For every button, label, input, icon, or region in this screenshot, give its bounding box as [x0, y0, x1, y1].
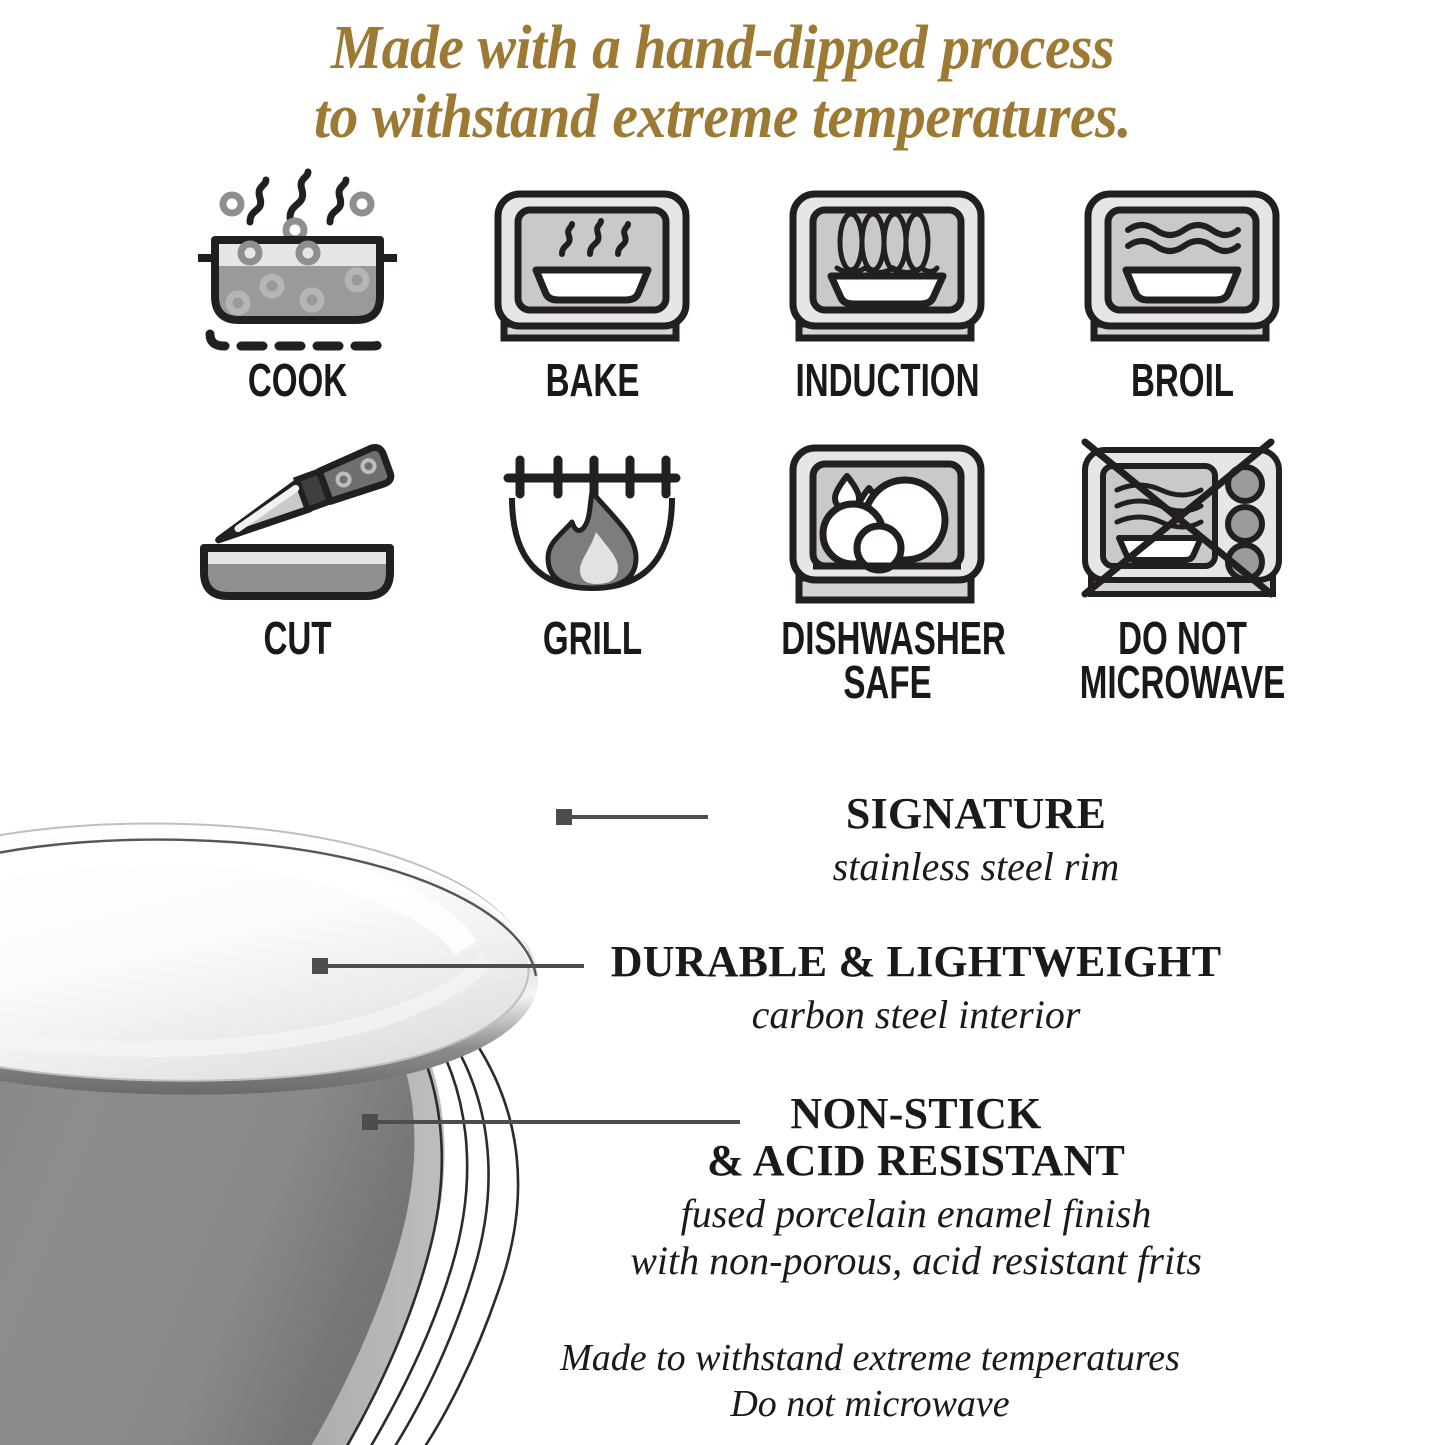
callout-signature: SIGNATURE stainless steel rim — [716, 790, 1236, 890]
callout-signature-subtitle: stainless steel rim — [716, 843, 1236, 890]
dishwasher-safe-icon — [740, 436, 1035, 611]
callout-nonstick-subtitle: fused porcelain enamel finish with non-p… — [556, 1190, 1276, 1284]
leader-line-durable — [312, 964, 584, 968]
pan-cutaway-illustration — [0, 626, 650, 1445]
icon-cell-induction: INDUCTION — [740, 178, 1035, 403]
page-headline: Made with a hand-dipped process to withs… — [51, 14, 1395, 153]
footer-note: Made to withstand extreme temperatures D… — [360, 1336, 1380, 1427]
icon-cell-do-not-microwave: DO NOT MICROWAVE — [1035, 436, 1330, 704]
headline-line-1: Made with a hand-dipped process — [51, 14, 1395, 83]
icon-label-induction: INDUCTION — [781, 359, 993, 403]
infographic-page: Made with a hand-dipped process to withs… — [0, 0, 1445, 1445]
icon-label-broil: BROIL — [1076, 359, 1288, 403]
icon-cell-dishwasher-safe: DISHWASHER SAFE — [740, 436, 1035, 704]
icon-label-dishwasher-safe: DISHWASHER SAFE — [781, 617, 993, 704]
induction-icon — [740, 178, 1035, 353]
footer-line-1: Made to withstand extreme temperatures — [560, 1337, 1180, 1379]
callout-nonstick-title: NON-STICK & ACID RESISTANT — [556, 1090, 1276, 1184]
bake-icon — [445, 178, 740, 353]
cook-icon — [150, 178, 445, 353]
callout-signature-title: SIGNATURE — [716, 790, 1236, 837]
icon-label-cook: COOK — [191, 359, 403, 403]
do-not-microwave-icon — [1035, 436, 1330, 611]
callout-nonstick: NON-STICK & ACID RESISTANT fused porcela… — [556, 1090, 1276, 1285]
icon-cell-broil: BROIL — [1035, 178, 1330, 403]
footer-line-2: Do not microwave — [360, 1382, 1380, 1428]
icon-label-do-not-microwave: DO NOT MICROWAVE — [1076, 617, 1288, 704]
icon-cell-cook: COOK — [150, 178, 445, 403]
leader-line-signature — [556, 815, 708, 819]
icon-cell-bake: BAKE — [445, 178, 740, 403]
headline-line-2: to withstand extreme temperatures. — [51, 83, 1395, 152]
callout-durable: DURABLE & LIGHTWEIGHT carbon steel inter… — [596, 938, 1236, 1038]
feature-icon-grid: COOK BAKE — [150, 178, 1330, 688]
callout-durable-subtitle: carbon steel interior — [596, 991, 1236, 1038]
callout-durable-title: DURABLE & LIGHTWEIGHT — [596, 938, 1236, 985]
grill-icon — [445, 436, 740, 611]
icon-label-bake: BAKE — [486, 359, 698, 403]
broil-icon — [1035, 178, 1330, 353]
cut-icon — [150, 436, 445, 611]
